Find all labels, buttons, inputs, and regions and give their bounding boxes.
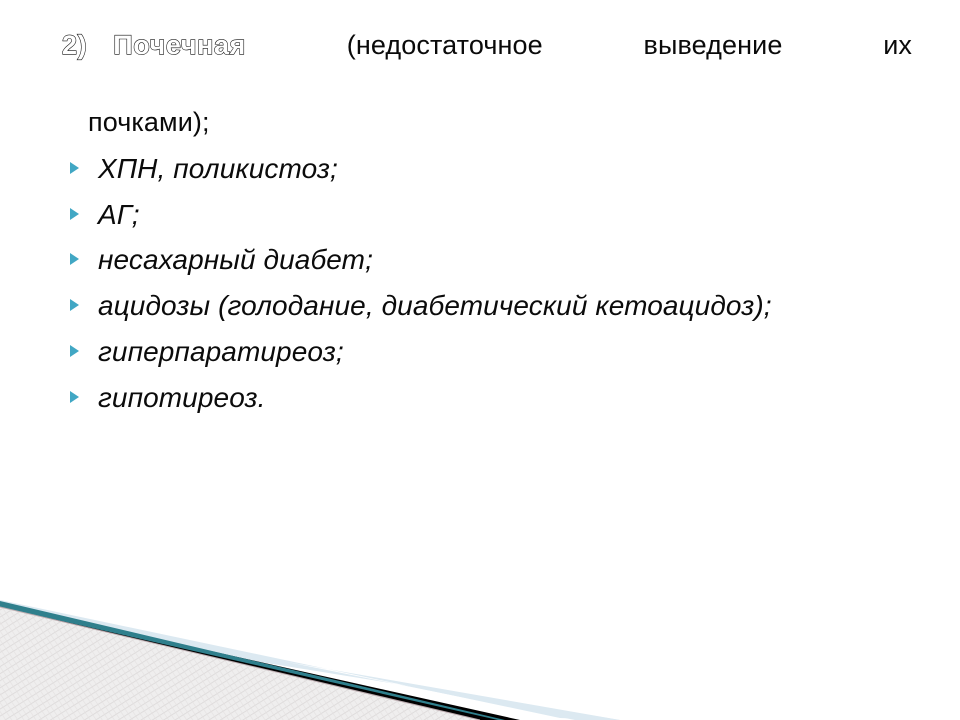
list-item-label: АГ; [98,195,798,235]
ribbon-teal-line [0,601,505,720]
bottom-left-diagonal-ribbon [0,560,620,720]
lead-number: 2) [62,30,87,60]
list-item[interactable]: гипотиреоз. [62,378,912,418]
list-item-label: ХПН, поликистоз; [98,149,798,189]
list-item-label: гипотиреоз. [98,378,798,418]
slide-body: 2)Почечная (недостаточное выведение ихпо… [62,26,912,423]
ribbon-hatched-triangle-overlay [0,607,480,720]
ribbon-pale-blue-band [0,600,620,720]
list-item-label: гиперпаратиреоз; [98,332,798,372]
list-item-label: ацидозы (голодание, диабетический кетоац… [98,286,828,326]
bullet-list: ХПН, поликистоз; АГ; несахарный диабет; … [62,149,912,418]
list-item-label: несахарный диабет; [98,240,798,280]
triangle-right-icon [70,345,79,357]
list-item[interactable]: несахарный диабет; [62,240,912,280]
lead-rest-line2: почками); [88,107,210,137]
ribbon-black-band-wide [0,606,515,720]
triangle-right-icon [70,391,79,403]
triangle-right-icon [70,299,79,311]
triangle-right-icon [70,162,79,174]
ribbon-pale-blue-band-body [0,604,620,720]
ribbon-black-band [0,604,520,720]
list-item[interactable]: АГ; [62,195,912,235]
lead-rest-line1: (недостаточное выведение их [246,30,912,60]
ribbon-hatched-triangle-outline [0,607,480,720]
list-item[interactable]: гиперпаратиреоз; [62,332,912,372]
lead-paragraph: 2)Почечная (недостаточное выведение ихпо… [62,26,912,141]
triangle-right-icon [70,253,79,265]
ribbon-hatched-triangle [0,607,480,720]
triangle-right-icon [70,208,79,220]
slide-canvas: 2)Почечная (недостаточное выведение ихпо… [0,0,960,720]
lead-paragraph-line-1: 2)Почечная (недостаточное выведение их [88,26,912,103]
list-item[interactable]: ХПН, поликистоз; [62,149,912,189]
list-item[interactable]: ацидозы (голодание, диабетический кетоац… [62,286,912,326]
lead-headline: Почечная [113,30,246,60]
